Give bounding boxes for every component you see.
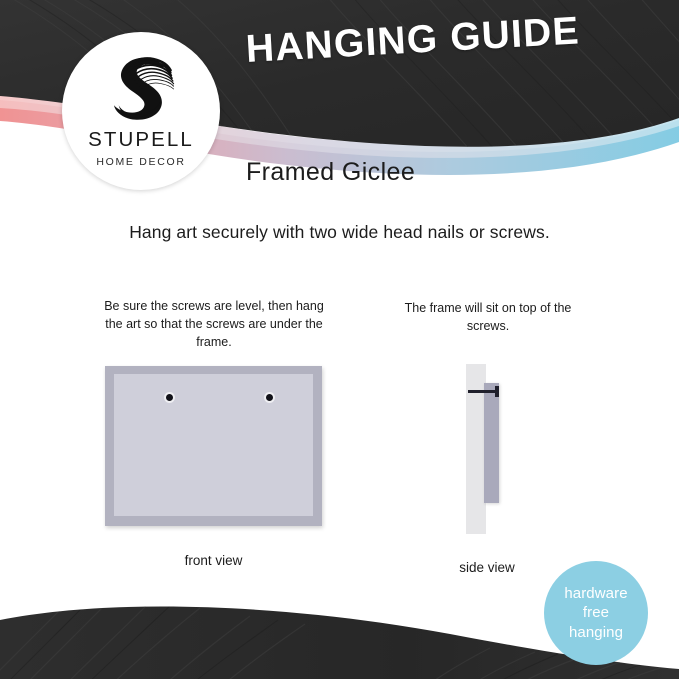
- side-view-caption: The frame will sit on top of the screws.: [392, 299, 584, 335]
- screw-dot-right-icon: [266, 394, 273, 401]
- badge-line-1: hardware: [564, 584, 627, 603]
- front-view-caption: Be sure the screws are level, then hang …: [100, 297, 328, 351]
- hanging-guide-page: STUPELL HOME DECOR HANGING GUIDE Framed …: [0, 0, 679, 679]
- screw-dot-left-icon: [166, 394, 173, 401]
- hardware-free-hanging-badge-text: hardware free hanging: [564, 584, 627, 642]
- side-view-label: side view: [432, 560, 542, 575]
- front-view-diagram: [105, 366, 322, 526]
- product-type-heading: Framed Giclee: [246, 158, 415, 187]
- page-title: HANGING GUIDE: [245, 9, 581, 72]
- front-view-label: front view: [105, 553, 322, 568]
- side-view-screw-head-icon: [495, 386, 499, 397]
- side-view-diagram: [466, 364, 526, 534]
- brand-name: STUPELL: [88, 130, 194, 151]
- stupell-s-swoosh-icon: [101, 48, 181, 126]
- side-view-frame: [484, 383, 499, 503]
- badge-line-3: hanging: [564, 623, 627, 642]
- brand-logo-badge: STUPELL HOME DECOR: [62, 32, 220, 190]
- badge-line-2: free: [564, 603, 627, 622]
- front-view-frame-inner: [114, 374, 313, 516]
- brand-tagline: HOME DECOR: [96, 157, 185, 168]
- intro-instruction: Hang art securely with two wide head nai…: [0, 222, 679, 243]
- side-view-screw-shaft-icon: [468, 390, 498, 393]
- hardware-free-hanging-badge: hardware free hanging: [544, 561, 648, 665]
